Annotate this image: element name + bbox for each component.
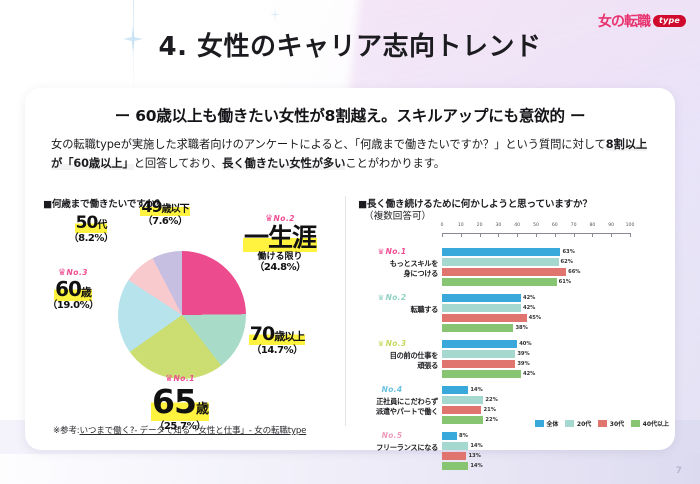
axis-tick-label: 50	[533, 223, 539, 228]
lead-highlight-2: 長く働きたい女性が多い	[222, 157, 345, 170]
legend-label: 全体	[546, 419, 558, 428]
bar-set: 42%42%45%38%	[442, 294, 630, 334]
lead-paragraph: 女の転職typeが実施した求職者向けのアンケートによると、「何歳まで働きたいです…	[51, 136, 649, 173]
pie-label-2: 70歳以上（14.7%）	[221, 324, 333, 356]
bar-20代: 14%	[442, 442, 468, 450]
legend-item-全体[interactable]: 全体	[535, 419, 559, 428]
axis-tick	[592, 233, 593, 237]
page-title: 4. 女性のキャリア志向トレンド	[0, 26, 700, 63]
bar-value: 21%	[483, 406, 495, 414]
legend-item-30代[interactable]: 30代	[598, 419, 624, 428]
axis-tick-label: 20	[477, 223, 483, 228]
pie-label-main: 60歳	[27, 278, 119, 300]
bar-40代以上: 38%	[442, 324, 513, 332]
axis-tick-label: 100	[626, 223, 635, 228]
bar-value: 40%	[519, 340, 531, 348]
lead-text-2: と回答しており、	[134, 157, 222, 170]
pie-label-sub: 働ける限り	[221, 252, 339, 262]
pie-label-pct: （8.2%）	[55, 233, 127, 244]
charts-row: ■何歳まで働きたいですか？ ♛No.2一生涯働ける限り（24.8%）70歳以上（…	[25, 196, 675, 426]
bar-全体: 8%	[442, 432, 457, 440]
bar-20代: 39%	[442, 350, 515, 358]
pie-label-main: 65歳	[105, 384, 255, 421]
axis-tick	[555, 233, 556, 237]
legend-label: 40代以上	[643, 419, 669, 428]
footer-prefix: ※参考:	[53, 426, 79, 436]
bar-value: 14%	[470, 462, 482, 470]
axis-tick-label: 30	[495, 223, 501, 228]
bar-value: 42%	[523, 370, 535, 378]
bar-group-rank: ♛No.2	[346, 293, 438, 302]
crown-icon: ♛	[378, 247, 385, 256]
lead-text-3: ことがわかります。	[345, 157, 445, 170]
axis-tick	[536, 233, 537, 237]
bar-value: 66%	[568, 268, 580, 276]
bar-value: 61%	[559, 278, 571, 286]
legend-label: 20代	[577, 419, 591, 428]
bar-group-label: もっとスキルを身につける	[346, 259, 438, 278]
bar-全体: 42%	[442, 294, 521, 302]
bar-全体: 14%	[442, 386, 468, 394]
legend-label: 30代	[610, 419, 624, 428]
pie-label-pct: （14.7%）	[221, 345, 333, 356]
bar-value: 14%	[470, 386, 482, 394]
axis-tick	[498, 233, 499, 237]
bar-value: 42%	[523, 304, 535, 312]
bar-set: 40%39%39%42%	[442, 340, 630, 380]
bar-value: 13%	[468, 452, 480, 460]
pie-panel: ■何歳まで働きたいですか？ ♛No.2一生涯働ける限り（24.8%）70歳以上（…	[25, 196, 345, 426]
bar-40代以上: 61%	[442, 278, 557, 286]
bar-group-label: 目の前の仕事を頑張る	[346, 351, 438, 370]
axis-tick-label: 10	[458, 223, 464, 228]
chart-legend: 全体20代30代40代以上	[535, 419, 669, 428]
bar-group-label: 正社員にこだわらず派遣やパートで働く	[346, 397, 438, 416]
footer-link[interactable]: いつまで働く?- データで知る「女性と仕事」- 女の転職type	[79, 426, 306, 436]
bar-全体: 40%	[442, 340, 517, 348]
crown-icon: ♛	[378, 339, 385, 348]
legend-swatch	[535, 420, 544, 427]
bar-40代以上: 42%	[442, 370, 521, 378]
sparkle-icon-small	[270, 8, 280, 21]
legend-item-20代[interactable]: 20代	[565, 419, 591, 428]
bar-value: 39%	[517, 360, 529, 368]
bar-value: 22%	[485, 416, 497, 424]
pie-label-main: 70歳以上	[221, 324, 333, 345]
bar-group-label: フリーランスになる	[346, 443, 438, 453]
legend-swatch	[631, 420, 640, 427]
crown-icon: ♛	[378, 293, 385, 302]
bar-axis: 0102030405060708090100	[442, 224, 630, 240]
pie-label-6: 49歳以下（7.6%）	[117, 198, 213, 227]
bar-value: 45%	[529, 314, 541, 322]
bar-value: 14%	[470, 442, 482, 450]
bar-40代以上: 22%	[442, 416, 483, 424]
bar-20代: 42%	[442, 304, 521, 312]
bar-set: 63%62%66%61%	[442, 248, 630, 288]
bar-value: 63%	[562, 248, 574, 256]
slide-root: 女の転職 type 4. 女性のキャリア志向トレンド ー 60歳以上も働きたい女…	[0, 0, 700, 484]
content-card: ー 60歳以上も働きたい女性が8割越え。スキルアップにも意欲的 ー 女の転職ty…	[25, 88, 675, 450]
bar-30代: 66%	[442, 268, 566, 276]
axis-tick	[611, 233, 612, 237]
pie-label-main: 一生涯	[221, 224, 339, 252]
legend-swatch	[565, 420, 574, 427]
axis-tick	[480, 233, 481, 237]
bar-value: 42%	[523, 294, 535, 302]
pie-label-pct: （24.8%）	[221, 262, 339, 273]
bar-value: 39%	[517, 350, 529, 358]
axis-tick	[461, 233, 462, 237]
bar-group-rank: ♛No.3	[346, 339, 438, 348]
bar-value: 8%	[459, 432, 468, 440]
bar-30代: 45%	[442, 314, 527, 322]
bar-30代: 39%	[442, 360, 515, 368]
bar-question-note: （複数回答可）	[364, 208, 431, 222]
axis-tick-label: 90	[608, 223, 614, 228]
bar-value: 62%	[561, 258, 573, 266]
axis-tick-label: 0	[441, 223, 444, 228]
pie-label-main: 49歳以下	[117, 198, 213, 216]
axis-tick	[630, 233, 631, 237]
pie-label-pct: （7.6%）	[117, 216, 213, 227]
bar-30代: 21%	[442, 406, 481, 414]
axis-tick-label: 40	[514, 223, 520, 228]
bar-panel: ■長く働き続けるために何かしようと思っていますか？ （複数回答可） 010203…	[345, 196, 675, 426]
axis-tick	[574, 233, 575, 237]
page-number: 7	[676, 466, 682, 476]
headline: ー 60歳以上も働きたい女性が8割越え。スキルアップにも意欲的 ー	[43, 104, 657, 126]
bar-全体: 63%	[442, 248, 560, 256]
axis-tick-label: 60	[552, 223, 558, 228]
bar-group-label: 転職する	[346, 305, 438, 315]
lead-text-1: 女の転職typeが実施した求職者向けのアンケートによると、「何歳まで働きたいです…	[51, 138, 606, 151]
bar-set: 8%14%13%14%	[442, 432, 630, 472]
axis-tick-label: 70	[571, 223, 577, 228]
bar-20代: 22%	[442, 396, 483, 404]
legend-swatch	[598, 420, 607, 427]
bar-group-rank: No.5	[346, 431, 438, 440]
bar-value: 38%	[515, 324, 527, 332]
pie-label-pct: （19.0%）	[27, 300, 119, 311]
axis-tick	[517, 233, 518, 237]
bar-value: 22%	[485, 396, 497, 404]
legend-item-40代以上[interactable]: 40代以上	[631, 419, 669, 428]
axis-tick	[442, 233, 443, 237]
bar-group-rank: No.4	[346, 385, 438, 394]
axis-tick-label: 80	[589, 223, 595, 228]
bar-group-rank: ♛No.1	[346, 247, 438, 256]
bar-20代: 62%	[442, 258, 559, 266]
pie-label-1: ♛No.2一生涯働ける限り（24.8%）	[221, 214, 339, 273]
bar-40代以上: 14%	[442, 462, 468, 470]
bar-30代: 13%	[442, 452, 466, 460]
footer-reference: ※参考:いつまで働く?- データで知る「女性と仕事」- 女の転職type	[53, 424, 306, 436]
pie-label-4: ♛No.360歳（19.0%）	[27, 268, 119, 312]
